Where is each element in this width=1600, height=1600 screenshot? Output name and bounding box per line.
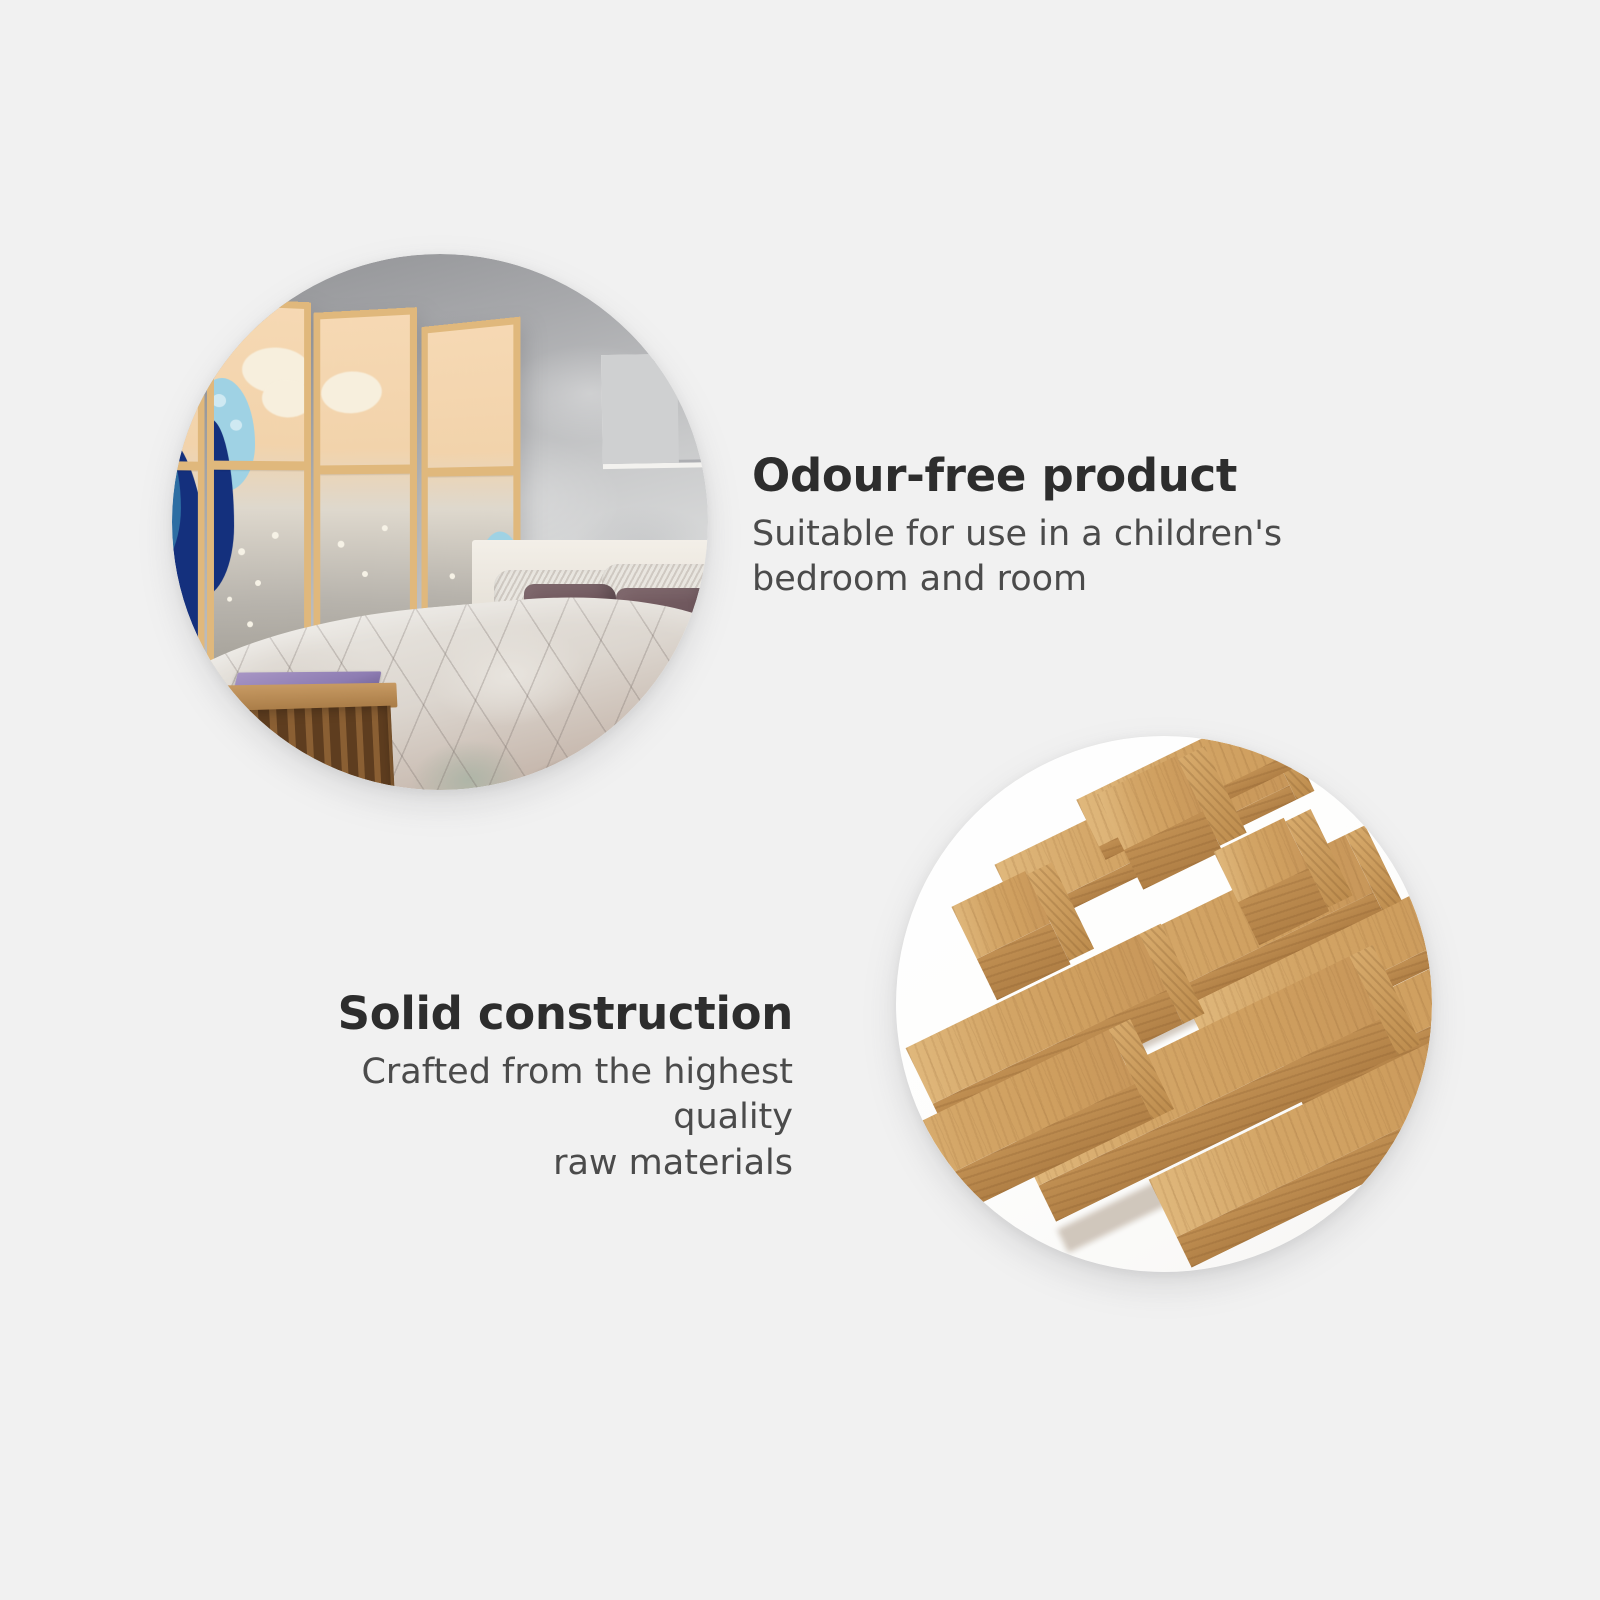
feature-description-line: Crafted from the highest quality	[361, 1052, 793, 1138]
feature-title-odour-free: Odour-free product	[752, 452, 1312, 500]
feature-block-odour-free: Odour-free product Suitable for use in a…	[752, 452, 1312, 603]
feature-description-line: bedroom and room	[752, 559, 1087, 599]
bench-lattice-front	[232, 706, 395, 790]
feature-description-line: Suitable for use in a children's	[752, 514, 1282, 554]
feature-description-line: raw materials	[553, 1143, 793, 1183]
infographic-canvas: Odour-free product Suitable for use in a…	[0, 0, 1600, 1600]
bedroom-with-folding-screen-photo	[172, 254, 708, 790]
wooden-lattice-bench	[224, 683, 402, 790]
medallion-clip	[896, 736, 1432, 1272]
divider-panel-1	[172, 296, 204, 704]
stacked-timber-planks-photo	[896, 736, 1432, 1272]
bedroom-scene	[172, 254, 708, 790]
feature-description-odour-free: Suitable for use in a children's bedroom…	[752, 512, 1312, 603]
feature-title-solid-construction: Solid construction	[233, 990, 793, 1038]
medallion-clip	[172, 254, 708, 790]
feature-block-solid-construction: Solid construction Crafted from the high…	[233, 990, 793, 1186]
timber-scene	[896, 736, 1432, 1272]
wall-picture-frame	[601, 353, 708, 469]
great-wave-artwork	[172, 296, 204, 704]
timber-block	[951, 871, 1050, 959]
feature-description-solid-construction: Crafted from the highest quality raw mat…	[233, 1050, 793, 1187]
